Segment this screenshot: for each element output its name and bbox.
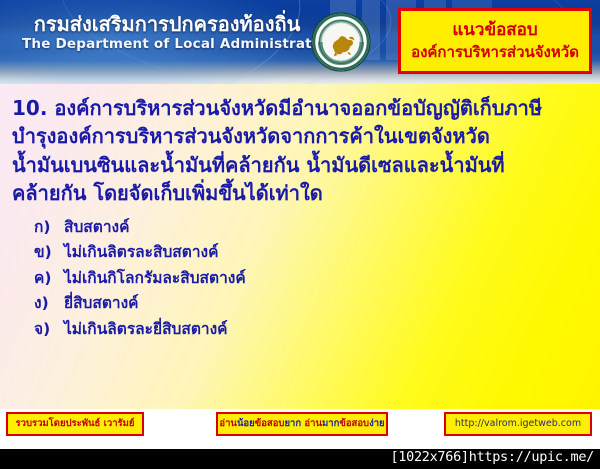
website-url-text: http://valrom.igetweb.com xyxy=(455,419,581,429)
department-name-english: The Department of Local Administration xyxy=(22,38,312,52)
choice-key: ค) xyxy=(34,271,64,287)
question-line: บำรุงองค์การบริหารส่วนจังหวัดจากการค้าใน… xyxy=(12,122,590,150)
choice-key: ก) xyxy=(34,220,64,236)
choice-text: สิบสตางค์ xyxy=(64,220,129,236)
motto-seg-1: อ่าน xyxy=(219,418,237,429)
question-line: 10. องค์การบริหารส่วนจังหวัดมีอำนาจออกข้… xyxy=(12,94,590,122)
motto-seg-8: ง่าย xyxy=(369,418,385,429)
choice-text: ไม่เกินลิตรละยี่สิบสตางค์ xyxy=(64,322,228,338)
motto-seg-4: ยาก xyxy=(284,418,301,429)
study-motto-text: อ่านน้อยข้อสอบยาก อ่านมากข้อสอบง่าย xyxy=(219,419,384,429)
motto-seg-7: ข้อสอบ xyxy=(339,418,369,429)
department-name-group: กรมส่งเสริมการปกครองท้องถิ่น The Departm… xyxy=(22,14,312,52)
motto-seg-3: ข้อสอบ xyxy=(255,418,285,429)
motto-seg-5: อ่าน xyxy=(304,418,322,429)
answer-choice-d[interactable]: ง) ยี่สิบสตางค์ xyxy=(12,296,590,312)
answer-choice-c[interactable]: ค) ไม่เกินกิโลกรัมละสิบสตางค์ xyxy=(12,271,590,287)
exam-title-line-1: แนวข้อสอบ xyxy=(452,21,537,41)
motto-seg-2: น้อย xyxy=(237,418,255,429)
slide-footer: รวบรวมโดยประพันธ์ เวารัมย์ อ่านน้อยข้อสอ… xyxy=(0,409,600,449)
answer-choice-b[interactable]: ข) ไม่เกินลิตรละสิบสตางค์ xyxy=(12,245,590,261)
motto-seg-6: มาก xyxy=(322,418,339,429)
choice-text: ไม่เกินกิโลกรัมละสิบสตางค์ xyxy=(64,271,246,287)
department-name-thai: กรมส่งเสริมการปกครองท้องถิ่น xyxy=(22,14,312,34)
department-seal-icon xyxy=(311,12,371,72)
question-content-panel: 10. องค์การบริหารส่วนจังหวัดมีอำนาจออกข้… xyxy=(0,84,600,409)
question-line: คล้ายกัน โดยจัดเก็บเพิ่มขึ้นได้เท่าใด xyxy=(12,179,590,207)
presentation-slide: กรมส่งเสริมการปกครองท้องถิ่น The Departm… xyxy=(0,0,600,449)
compiler-credit-box: รวบรวมโดยประพันธ์ เวารัมย์ xyxy=(6,412,144,436)
image-watermark: [1022x766]https://upic.me/ xyxy=(390,447,594,467)
choice-text: ไม่เกินลิตรละสิบสตางค์ xyxy=(64,245,218,261)
study-motto-box: อ่านน้อยข้อสอบยาก อ่านมากข้อสอบง่าย xyxy=(216,412,388,436)
choice-key: ข) xyxy=(34,245,64,261)
answer-choice-a[interactable]: ก) สิบสตางค์ xyxy=(12,220,590,236)
answer-choice-list: ก) สิบสตางค์ ข) ไม่เกินลิตรละสิบสตางค์ ค… xyxy=(12,220,590,338)
choice-key: ง) xyxy=(34,296,64,312)
screenshot-stage: กรมส่งเสริมการปกครองท้องถิ่น The Departm… xyxy=(0,0,600,469)
website-url-box[interactable]: http://valrom.igetweb.com xyxy=(444,412,592,436)
question-line: น้ำมันเบนซินและน้ำมันที่คล้ายกัน น้ำมันด… xyxy=(12,151,590,179)
compiler-credit-text: รวบรวมโดยประพันธ์ เวารัมย์ xyxy=(16,419,135,429)
choice-text: ยี่สิบสตางค์ xyxy=(64,296,139,312)
choice-key: จ) xyxy=(34,322,64,338)
answer-choice-e[interactable]: จ) ไม่เกินลิตรละยี่สิบสตางค์ xyxy=(12,322,590,338)
exam-title-box: แนวข้อสอบ องค์การบริหารส่วนจังหวัด xyxy=(398,8,592,74)
exam-title-line-2: องค์การบริหารส่วนจังหวัด xyxy=(411,44,579,61)
